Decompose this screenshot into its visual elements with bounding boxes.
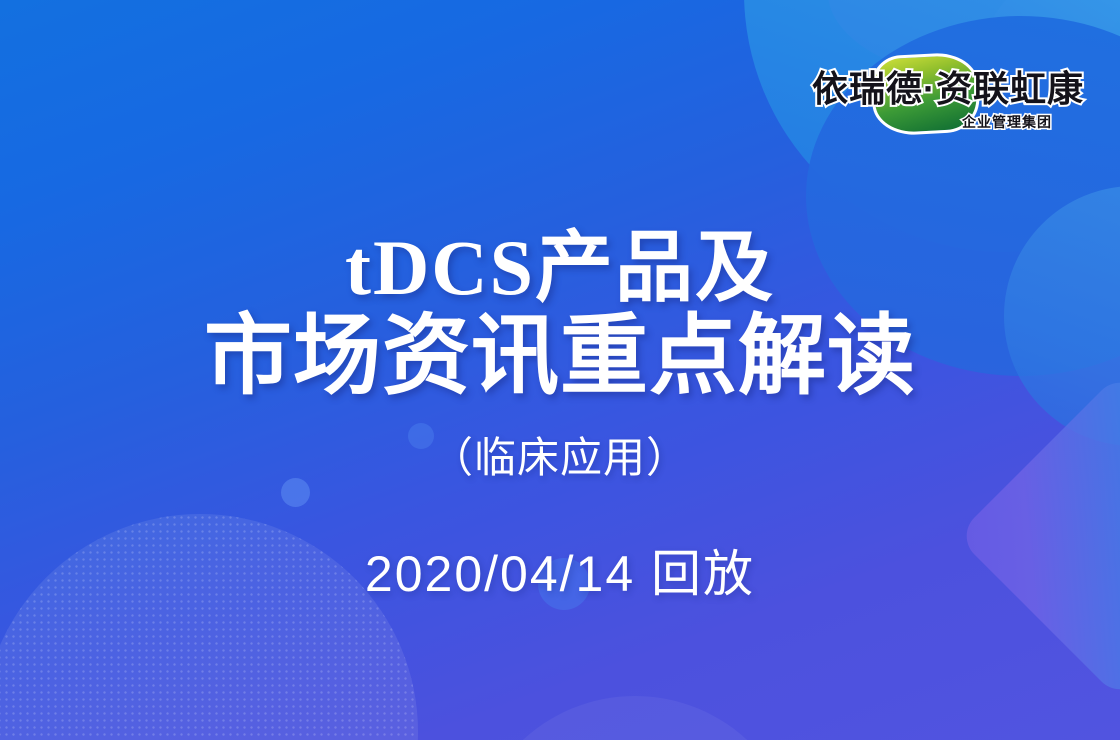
- brand-logo: 依瑞德·资联虹康 企业管理集团: [812, 54, 1082, 140]
- logo-company-name: 依瑞德·资联虹康: [812, 68, 1082, 110]
- logo-company-subtitle: 企业管理集团: [962, 112, 1052, 132]
- soft-circle-shape: [470, 696, 800, 740]
- poster-title-line-2: 市场资讯重点解读: [0, 306, 1120, 410]
- poster-date-replay: 2020/04/14 回放: [0, 542, 1120, 606]
- poster-subtitle: （临床应用）: [0, 430, 1120, 486]
- diamond-shape: [956, 372, 1120, 700]
- webinar-poster: 依瑞德·资联虹康 企业管理集团 tDCS产品及 市场资讯重点解读 （临床应用） …: [0, 0, 1120, 740]
- poster-title-line-1: tDCS产品及: [0, 222, 1120, 314]
